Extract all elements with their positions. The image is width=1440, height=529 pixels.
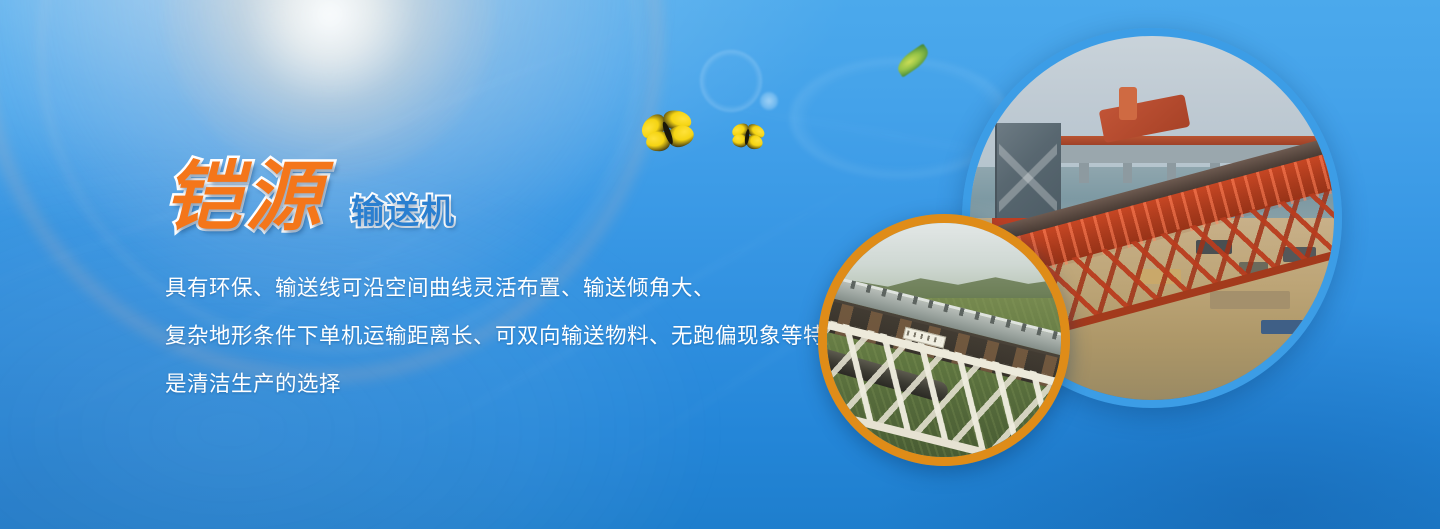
lens-flare-bubble-small [760, 92, 778, 110]
hero-banner: 铠源 输送机 具有环保、输送线可沿空间曲线灵活布置、输送倾角大、 复杂地形条件下… [0, 0, 1440, 529]
banner-title-row: 铠源 输送机 [165, 140, 885, 235]
description-line-2: 复杂地形条件下单机运输距离长、可双向输送物料、无跑偏现象等特点， [165, 313, 885, 361]
truss-bridge-conveyor-photo [827, 223, 1061, 457]
description-line-1: 具有环保、输送线可沿空间曲线灵活布置、输送倾角大、 [165, 265, 885, 313]
banner-text-block: 铠源 输送机 具有环保、输送线可沿空间曲线灵活布置、输送倾角大、 复杂地形条件下… [165, 140, 885, 409]
green-leaf-icon [893, 43, 932, 77]
banner-description: 具有环保、输送线可沿空间曲线灵活布置、输送倾角大、 复杂地形条件下单机运输距离长… [165, 265, 885, 409]
brand-title: 铠源 [165, 159, 325, 235]
lens-flare-bubble-large [700, 50, 762, 112]
product-title: 输送机 [351, 195, 456, 228]
description-line-3: 是清洁生产的选择 [165, 361, 885, 409]
photo-circle-small [818, 214, 1070, 466]
